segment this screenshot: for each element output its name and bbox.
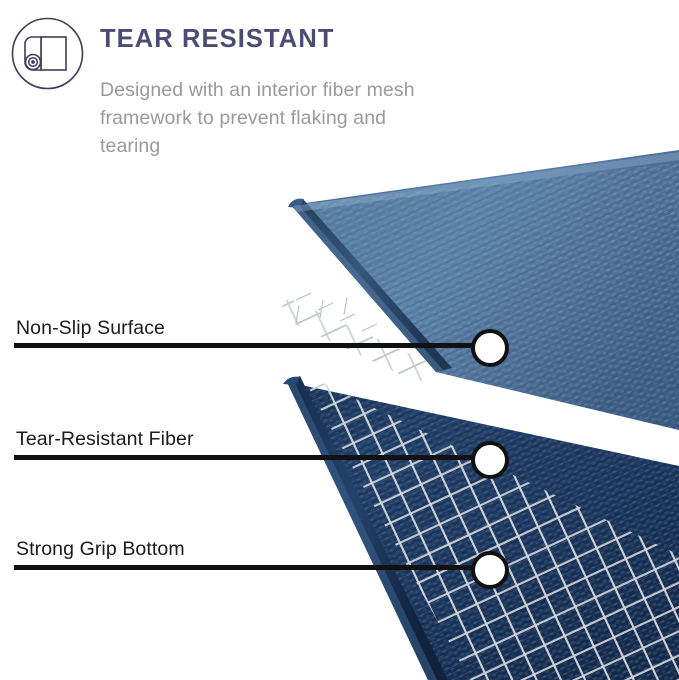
infographic-canvas: TEAR RESISTANT Designed with an interior… (0, 0, 679, 680)
callout-label-non-slip-surface: Non-Slip Surface (16, 317, 165, 340)
callout-dot-non-slip-surface[interactable] (471, 329, 509, 367)
callout-rule-strong-grip-bottom (14, 565, 478, 570)
callout-rule-non-slip-surface (14, 343, 478, 348)
callout-label-tear-resistant-fiber: Tear-Resistant Fiber (16, 428, 194, 451)
callout-label-strong-grip-bottom: Strong Grip Bottom (16, 538, 185, 561)
callout-group: Non-Slip Surface Tear-Resistant Fiber St… (0, 0, 679, 680)
callout-rule-tear-resistant-fiber (14, 455, 478, 460)
callout-dot-strong-grip-bottom[interactable] (471, 551, 509, 589)
callout-dot-tear-resistant-fiber[interactable] (471, 441, 509, 479)
